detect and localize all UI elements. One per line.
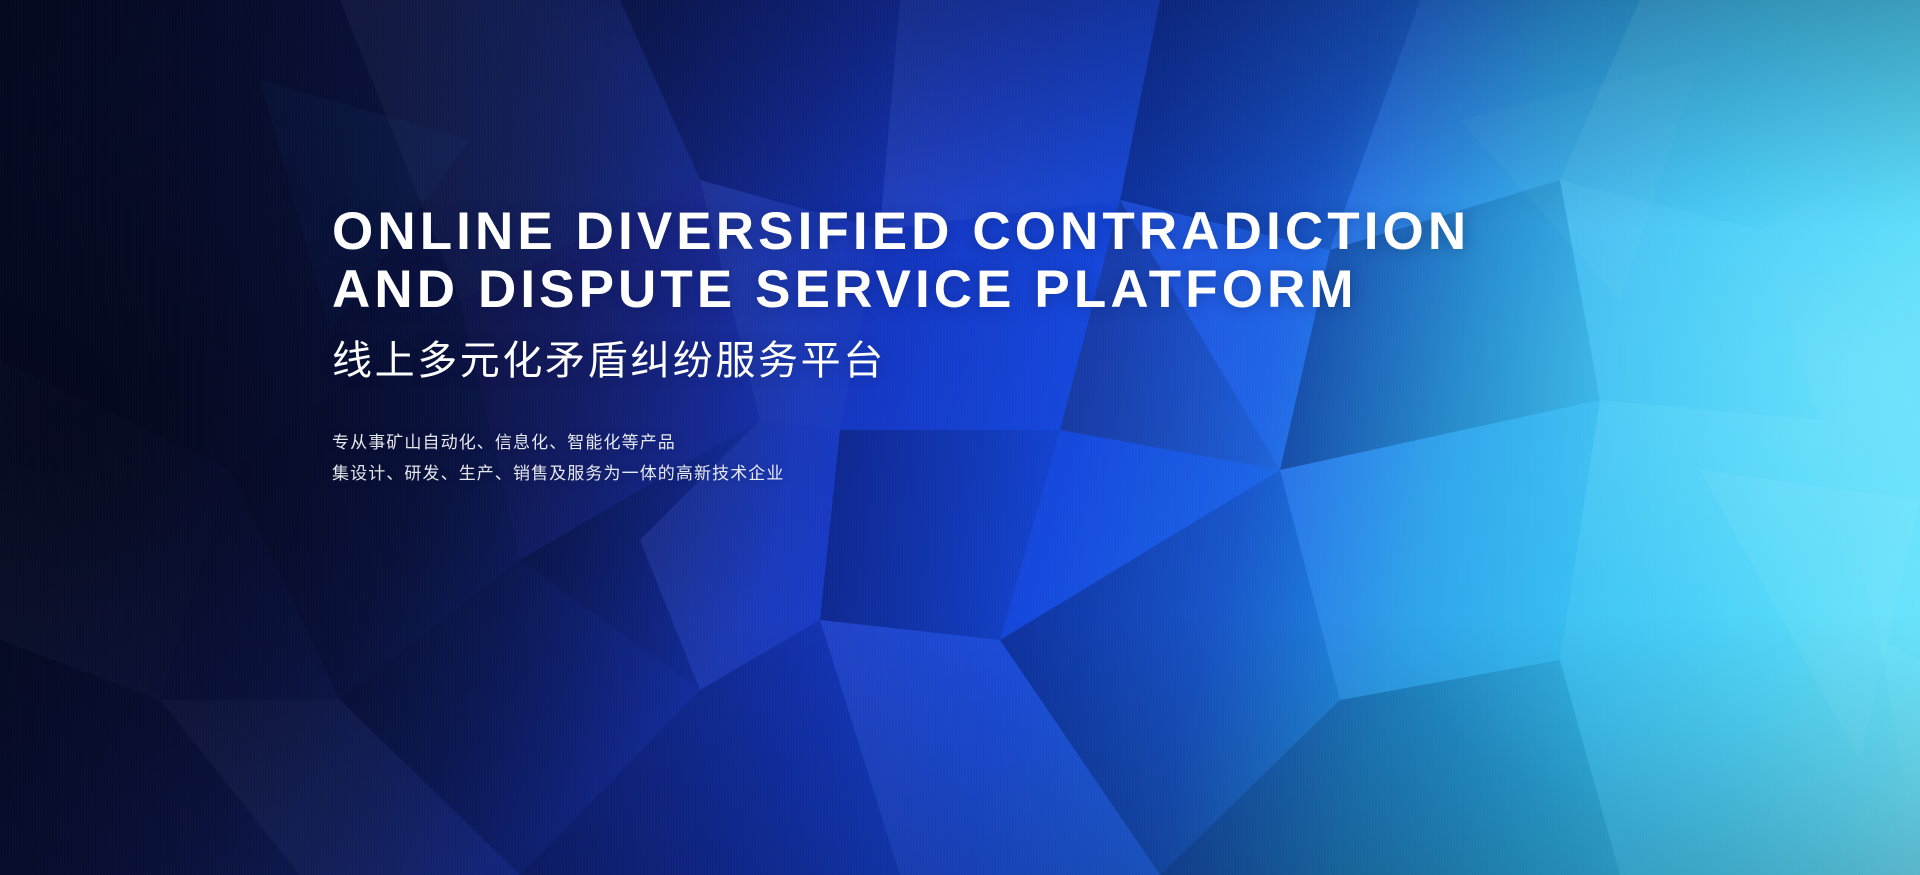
hero-subtitle-line-1: 专从事矿山自动化、信息化、智能化等产品 xyxy=(332,427,1652,458)
hero-text-block: ONLINE DIVERSIFIED CONTRADICTION AND DIS… xyxy=(332,203,1652,489)
hero-title-english: ONLINE DIVERSIFIED CONTRADICTION AND DIS… xyxy=(332,203,1652,319)
hero-title-english-line-2: AND DISPUTE SERVICE PLATFORM xyxy=(332,261,1652,319)
hero-subtitle-chinese: 专从事矿山自动化、信息化、智能化等产品 集设计、研发、生产、销售及服务为一体的高… xyxy=(332,427,1652,489)
hero-title-chinese: 线上多元化矛盾纠纷服务平台 xyxy=(332,337,1652,385)
hero-title-english-line-1: ONLINE DIVERSIFIED CONTRADICTION xyxy=(332,203,1652,261)
hero-subtitle-line-2: 集设计、研发、生产、销售及服务为一体的高新技术企业 xyxy=(332,458,1652,489)
hero-banner: ONLINE DIVERSIFIED CONTRADICTION AND DIS… xyxy=(0,0,1920,875)
